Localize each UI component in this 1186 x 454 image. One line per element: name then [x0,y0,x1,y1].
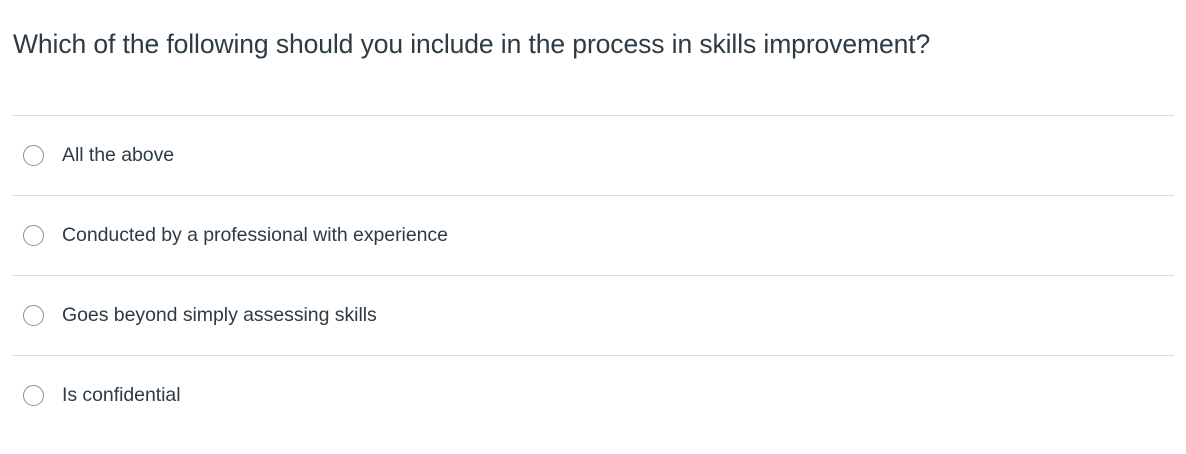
answer-option-row[interactable]: Is confidential [0,355,1186,435]
radio-button-icon[interactable] [23,305,44,326]
answer-option-label: Conducted by a professional with experie… [62,195,448,275]
answer-option-label: All the above [62,115,174,195]
radio-button-icon[interactable] [23,225,44,246]
answer-option-row[interactable]: Goes beyond simply assessing skills [0,275,1186,355]
answer-options-list: All the above Conducted by a professiona… [0,115,1186,435]
answer-option-label: Is confidential [62,355,181,435]
quiz-question-block: Which of the following should you includ… [0,0,1186,454]
radio-button-icon[interactable] [23,385,44,406]
answer-option-label: Goes beyond simply assessing skills [62,275,377,355]
answer-option-row[interactable]: All the above [0,115,1186,195]
answer-option-row[interactable]: Conducted by a professional with experie… [0,195,1186,275]
radio-button-icon[interactable] [23,145,44,166]
question-text: Which of the following should you includ… [13,26,1163,62]
